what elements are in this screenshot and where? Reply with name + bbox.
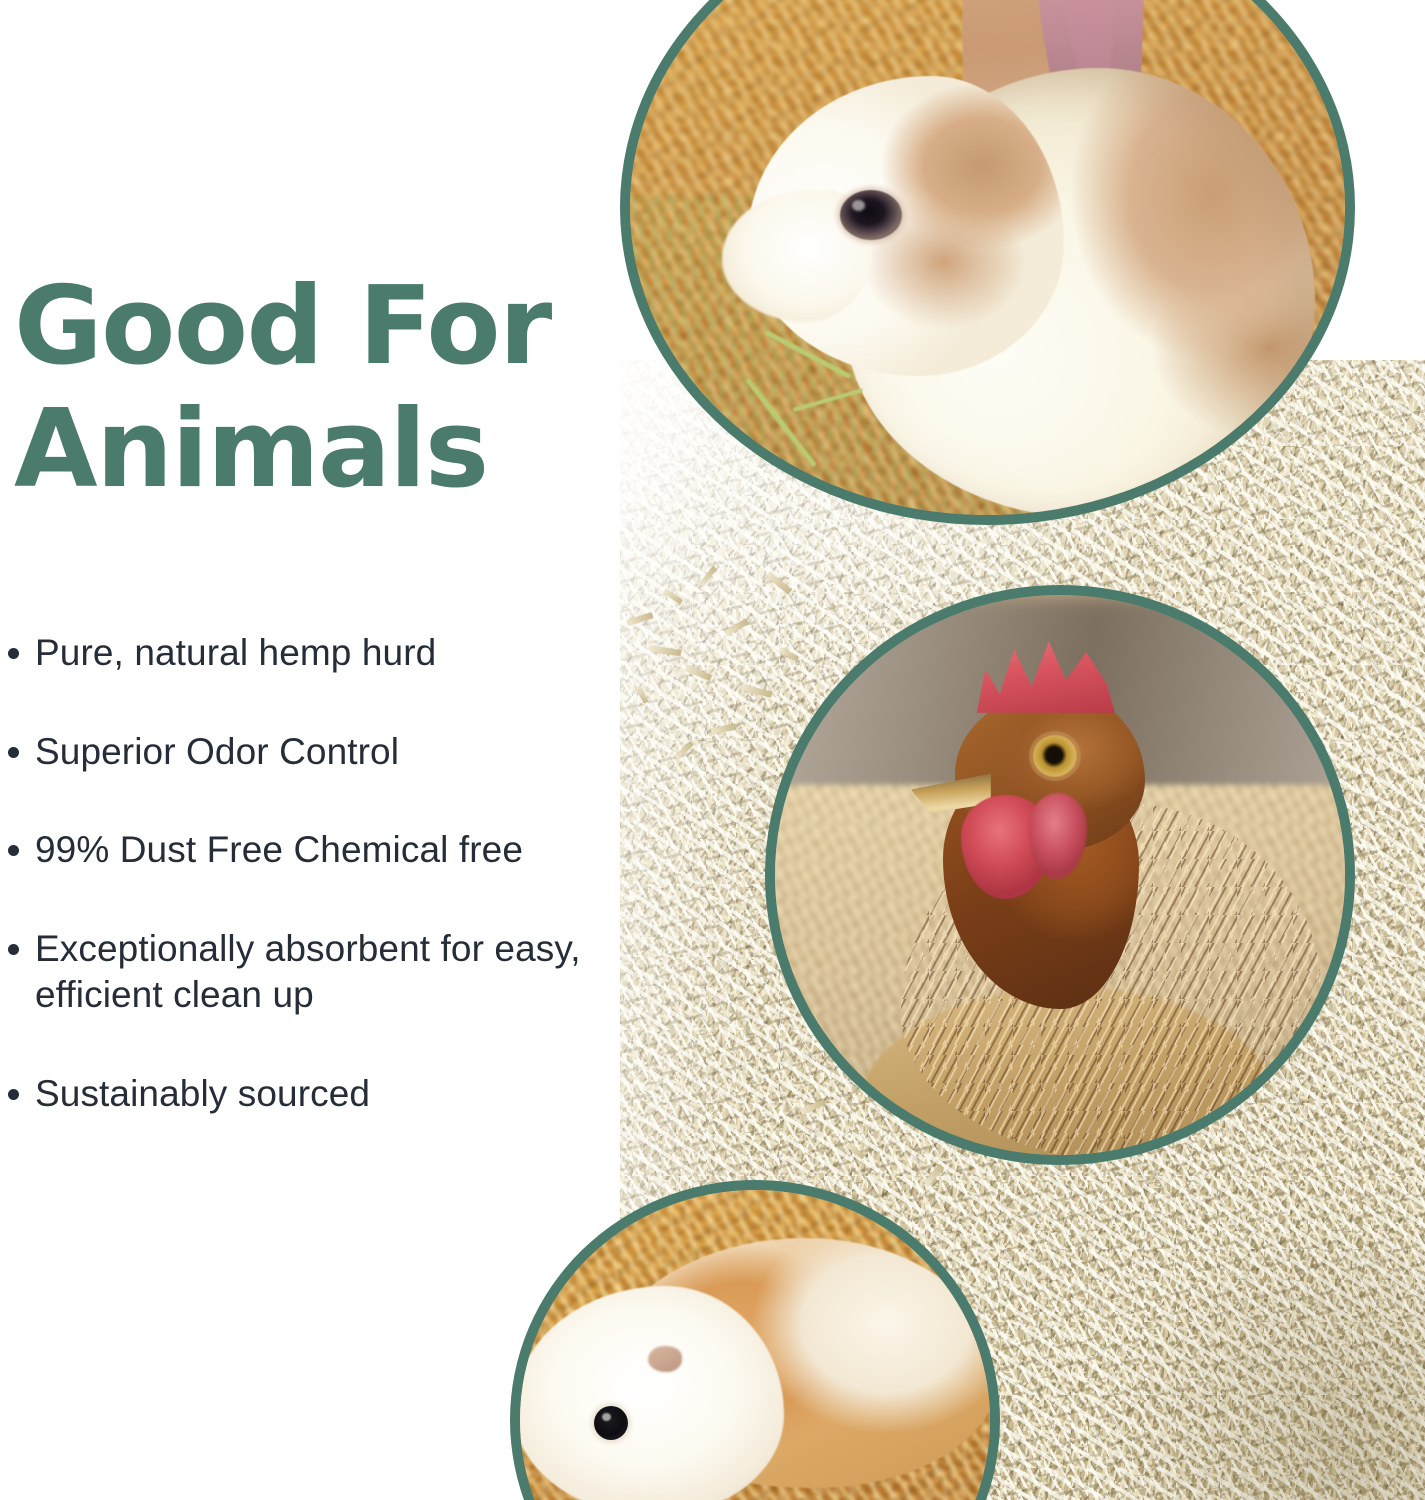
- list-item: Pure, natural hemp hurd: [8, 630, 708, 677]
- photo-circle-chicken: [775, 595, 1345, 1155]
- page-title: Good For Animals: [14, 265, 654, 511]
- rabbit-eye: [840, 190, 902, 240]
- photo-circle-rabbit: [630, 0, 1345, 515]
- photo-circle-guinea-pig: [520, 1190, 990, 1500]
- list-item: 99% Dust Free Chemical free: [8, 827, 708, 874]
- bullet-dot-icon: [8, 1089, 19, 1100]
- bullet-dot-icon: [8, 747, 19, 758]
- feature-text: Sustainably sourced: [35, 1071, 675, 1118]
- hen-eye: [1033, 735, 1077, 777]
- feature-text: Pure, natural hemp hurd: [35, 630, 675, 677]
- feature-text: Superior Odor Control: [35, 729, 675, 776]
- bullet-dot-icon: [8, 944, 19, 955]
- bullet-dot-icon: [8, 845, 19, 856]
- guinea-pig-photo: [520, 1190, 990, 1500]
- feature-text: 99% Dust Free Chemical free: [35, 827, 675, 874]
- feature-text: Exceptionally absorbent for easy, effici…: [35, 926, 675, 1019]
- list-item: Sustainably sourced: [8, 1071, 708, 1118]
- bullet-dot-icon: [8, 648, 19, 659]
- list-item: Superior Odor Control: [8, 729, 708, 776]
- guinea-pig-eye: [594, 1406, 628, 1440]
- chicken-photo: [775, 595, 1345, 1155]
- guinea-pig-ear: [648, 1346, 682, 1372]
- rabbit-photo: [630, 0, 1345, 515]
- product-infographic: Good For Animals Pure, natural hemp hurd…: [0, 0, 1425, 1500]
- feature-list: Pure, natural hemp hurd Superior Odor Co…: [8, 630, 708, 1170]
- list-item: Exceptionally absorbent for easy, effici…: [8, 926, 708, 1019]
